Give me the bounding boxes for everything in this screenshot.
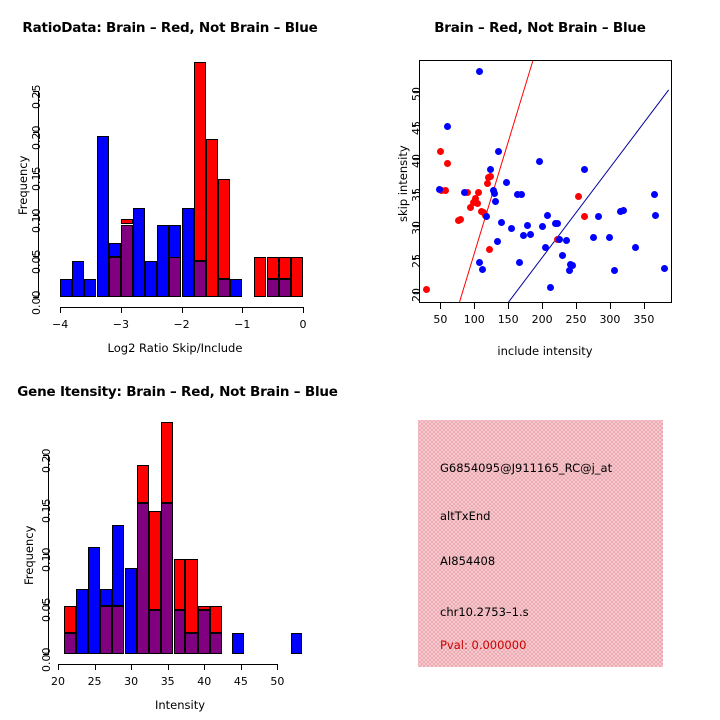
histogram-bar-overlap [149,610,161,654]
histogram-bar-brain [198,606,210,610]
x-tick-mark [95,664,96,670]
y-tick-label: 50 [410,87,423,101]
ratio-histogram-y-axis-label: Frequency [16,156,30,215]
histogram-bar-not-brain [133,208,145,297]
scatter-point-not-brain [444,123,451,130]
x-tick-label: 35 [152,675,184,688]
scatter-point-not-brain [494,238,501,245]
histogram-bar-brain [267,257,279,278]
histogram-bar-brain [137,465,149,503]
histogram-bar-not-brain [97,136,109,298]
histogram-bar-overlap [267,279,279,297]
scatter-point-not-brain [483,213,490,220]
y-tick-label: 0.05 [40,598,53,623]
x-tick-label: −2 [166,318,198,331]
scatter-point-not-brain [554,220,561,227]
histogram-bar-not-brain [112,525,124,607]
histogram-bar-not-brain [72,261,84,297]
gene-histogram-x-axis-label: Intensity [60,698,300,712]
x-tick-label: 100 [458,313,490,326]
histogram-bar-not-brain [125,568,137,654]
histogram-bar-not-brain [88,547,100,655]
histogram-bar-overlap [161,503,173,654]
histogram-bar-brain [64,606,76,633]
x-tick-label: 0 [287,318,319,331]
info-line-probeset-id: G6854095@J911165_RC@j_at [440,461,612,475]
x-tick-label: 200 [526,313,558,326]
histogram-bar-overlap [100,606,112,654]
scatter-point-not-brain [520,232,527,239]
y-tick-label: 20 [410,288,423,302]
scatter-point-not-brain [495,148,502,155]
x-tick-label: −3 [105,318,137,331]
x-tick-mark [542,303,543,309]
histogram-bar-brain [121,219,133,225]
histogram-bar-brain [185,559,197,633]
scatter-point-brain [575,193,582,200]
histogram-bar-overlap [137,503,149,654]
scatter-point-not-brain [611,267,618,274]
x-tick-mark [610,303,611,309]
info-line-accession: AI854408 [440,554,495,568]
y-tick-label: 35 [410,188,423,202]
y-tick-label: 0.00 [40,648,53,673]
scatter-point-not-brain [516,259,523,266]
y-tick-label: 0.05 [30,249,43,274]
histogram-bar-brain [194,62,206,261]
scatter-point-not-brain [536,158,543,165]
histogram-bar-brain [161,422,173,503]
histogram-bar-overlap [198,610,210,654]
histogram-bar-not-brain [157,225,169,298]
histogram-bar-overlap [112,606,124,654]
x-tick-mark [277,664,278,670]
info-line-pvalue: Pval: 0.000000 [440,638,526,652]
not-brain-trend [508,90,669,302]
gene-histogram-title: Gene Itensity: Brain – Red, Not Brain – … [0,384,355,400]
y-tick-label: 40 [410,154,423,168]
scatter-point-not-brain [595,213,602,220]
figure-canvas: RatioData: Brain – Red, Not Brain – Blue… [0,0,720,720]
x-tick-mark [131,664,132,670]
info-line-event-type: altTxEnd [440,509,490,523]
scatter-point-not-brain [661,265,668,272]
x-tick-mark [60,307,61,313]
panel-gene-info: G6854095@J911165_RC@j_ataltTxEndAI854408… [418,420,663,667]
scatter-point-not-brain [544,212,551,219]
histogram-bar-overlap [121,225,133,298]
histogram-bar-not-brain [291,633,303,654]
scatter-point-not-brain [503,179,510,186]
histogram-bar-not-brain [109,243,121,257]
scatter-point-not-brain [461,189,468,196]
scatter-point-brain [475,189,482,196]
histogram-bar-brain [149,511,161,611]
scatter-point-not-brain [632,244,639,251]
y-tick-label: 25 [410,254,423,268]
histogram-bar-brain [210,606,222,633]
ratio-histogram-plot-area [48,58,303,297]
histogram-bar-overlap [169,257,181,297]
scatter-x-axis-label: include intensity [425,344,665,358]
histogram-bar-overlap [109,257,121,297]
histogram-bar-overlap [64,633,76,654]
brain-trend [459,61,533,302]
info-line-coordinate: chr10.2753–1.s [440,605,529,619]
x-tick-label: 45 [225,675,257,688]
y-tick-label: 0.20 [30,126,43,151]
scatter-point-brain [437,148,444,155]
y-tick-label: 0.00 [30,291,43,316]
y-tick-label: 0.15 [40,498,53,523]
x-tick-mark [303,307,304,313]
histogram-bar-not-brain [60,279,72,297]
x-tick-mark [440,303,441,309]
scatter-title: Brain – Red, Not Brain – Blue [380,20,700,36]
histogram-bar-brain [254,257,266,297]
histogram-bar-brain [206,139,218,297]
histogram-bar-overlap [185,633,197,654]
scatter-point-not-brain [508,225,515,232]
x-tick-label: 20 [42,675,74,688]
scatter-point-not-brain [476,68,483,75]
scatter-point-brain [486,246,493,253]
histogram-bar-not-brain [100,589,112,606]
scatter-point-not-brain [569,262,576,269]
histogram-bar-overlap [210,633,222,654]
scatter-point-brain [442,187,449,194]
scatter-point-not-brain [563,237,570,244]
histogram-bar-brain [291,257,303,297]
scatter-point-not-brain [498,219,505,226]
histogram-bar-overlap [194,261,206,297]
x-tick-mark [168,664,169,670]
scatter-point-not-brain [542,244,549,251]
x-tick-mark [242,307,243,313]
x-tick-label: 50 [424,313,456,326]
scatter-point-brain [457,216,464,223]
scatter-point-brain [484,180,491,187]
scatter-point-not-brain [590,234,597,241]
scatter-point-not-brain [479,266,486,273]
scatter-point-not-brain [652,212,659,219]
y-tick-label: 0.25 [30,84,43,109]
x-tick-mark [204,664,205,670]
x-tick-mark [58,664,59,670]
scatter-point-brain [487,173,494,180]
histogram-bar-not-brain [76,589,88,654]
histogram-bar-brain [218,179,230,279]
y-tick-label: 0.10 [40,548,53,573]
histogram-bar-not-brain [84,279,96,297]
y-tick-label: 0.20 [40,448,53,473]
scatter-plot-area [420,61,671,302]
x-tick-mark [241,664,242,670]
histogram-bar-overlap [174,610,186,654]
scatter-point-not-brain [491,190,498,197]
scatter-point-brain [581,213,588,220]
scatter-point-not-brain [651,191,658,198]
y-tick-label: 45 [410,121,423,135]
x-tick-label: 350 [628,313,660,326]
scatter-point-not-brain [527,231,534,238]
histogram-bar-overlap [218,279,230,297]
scatter-point-not-brain [492,198,499,205]
x-tick-label: 300 [594,313,626,326]
scatter-point-not-brain [547,284,554,291]
x-tick-mark [644,303,645,309]
histogram-bar-brain [174,559,186,610]
histogram-bar-not-brain [182,208,194,297]
ratio-histogram-title: RatioData: Brain – Red, Not Brain – Blue [0,20,340,36]
histogram-bar-brain [279,257,291,278]
scatter-point-not-brain [620,207,627,214]
scatter-point-brain [423,286,430,293]
x-tick-mark [474,303,475,309]
x-tick-label: 250 [560,313,592,326]
scatter-point-not-brain [476,259,483,266]
scatter-point-not-brain [581,166,588,173]
scatter-point-brain [474,200,481,207]
y-tick-label: 0.15 [30,167,43,192]
x-tick-label: 25 [79,675,111,688]
histogram-bar-not-brain [169,225,181,258]
x-tick-label: 30 [115,675,147,688]
scatter-point-not-brain [556,236,563,243]
ratio-histogram-x-axis-label: Log2 Ratio Skip/Include [55,341,295,355]
scatter-point-not-brain [487,166,494,173]
x-tick-label: −1 [226,318,258,331]
y-tick-label: 0.10 [30,208,43,233]
x-tick-label: 150 [492,313,524,326]
scatter-point-not-brain [606,234,613,241]
x-tick-label: −4 [44,318,76,331]
scatter-point-not-brain [539,223,546,230]
gene-histogram-y-axis-label: Frequency [22,526,36,585]
scatter-point-not-brain [559,252,566,259]
scatter-point-not-brain [518,191,525,198]
x-tick-mark [576,303,577,309]
scatter-point-not-brain [524,222,531,229]
scatter-point-brain [444,160,451,167]
histogram-bar-not-brain [230,279,242,297]
histogram-bar-not-brain [232,633,244,654]
histogram-bar-not-brain [145,261,157,297]
gene-histogram-plot-area [58,420,303,654]
x-tick-mark [508,303,509,309]
x-tick-label: 50 [261,675,293,688]
scatter-y-axis-label: skip intensity [396,145,410,222]
y-tick-label: 30 [410,221,423,235]
info-panel-texture [418,420,663,667]
x-tick-mark [121,307,122,313]
x-tick-label: 40 [188,675,220,688]
x-tick-mark [182,307,183,313]
histogram-bar-overlap [279,279,291,297]
